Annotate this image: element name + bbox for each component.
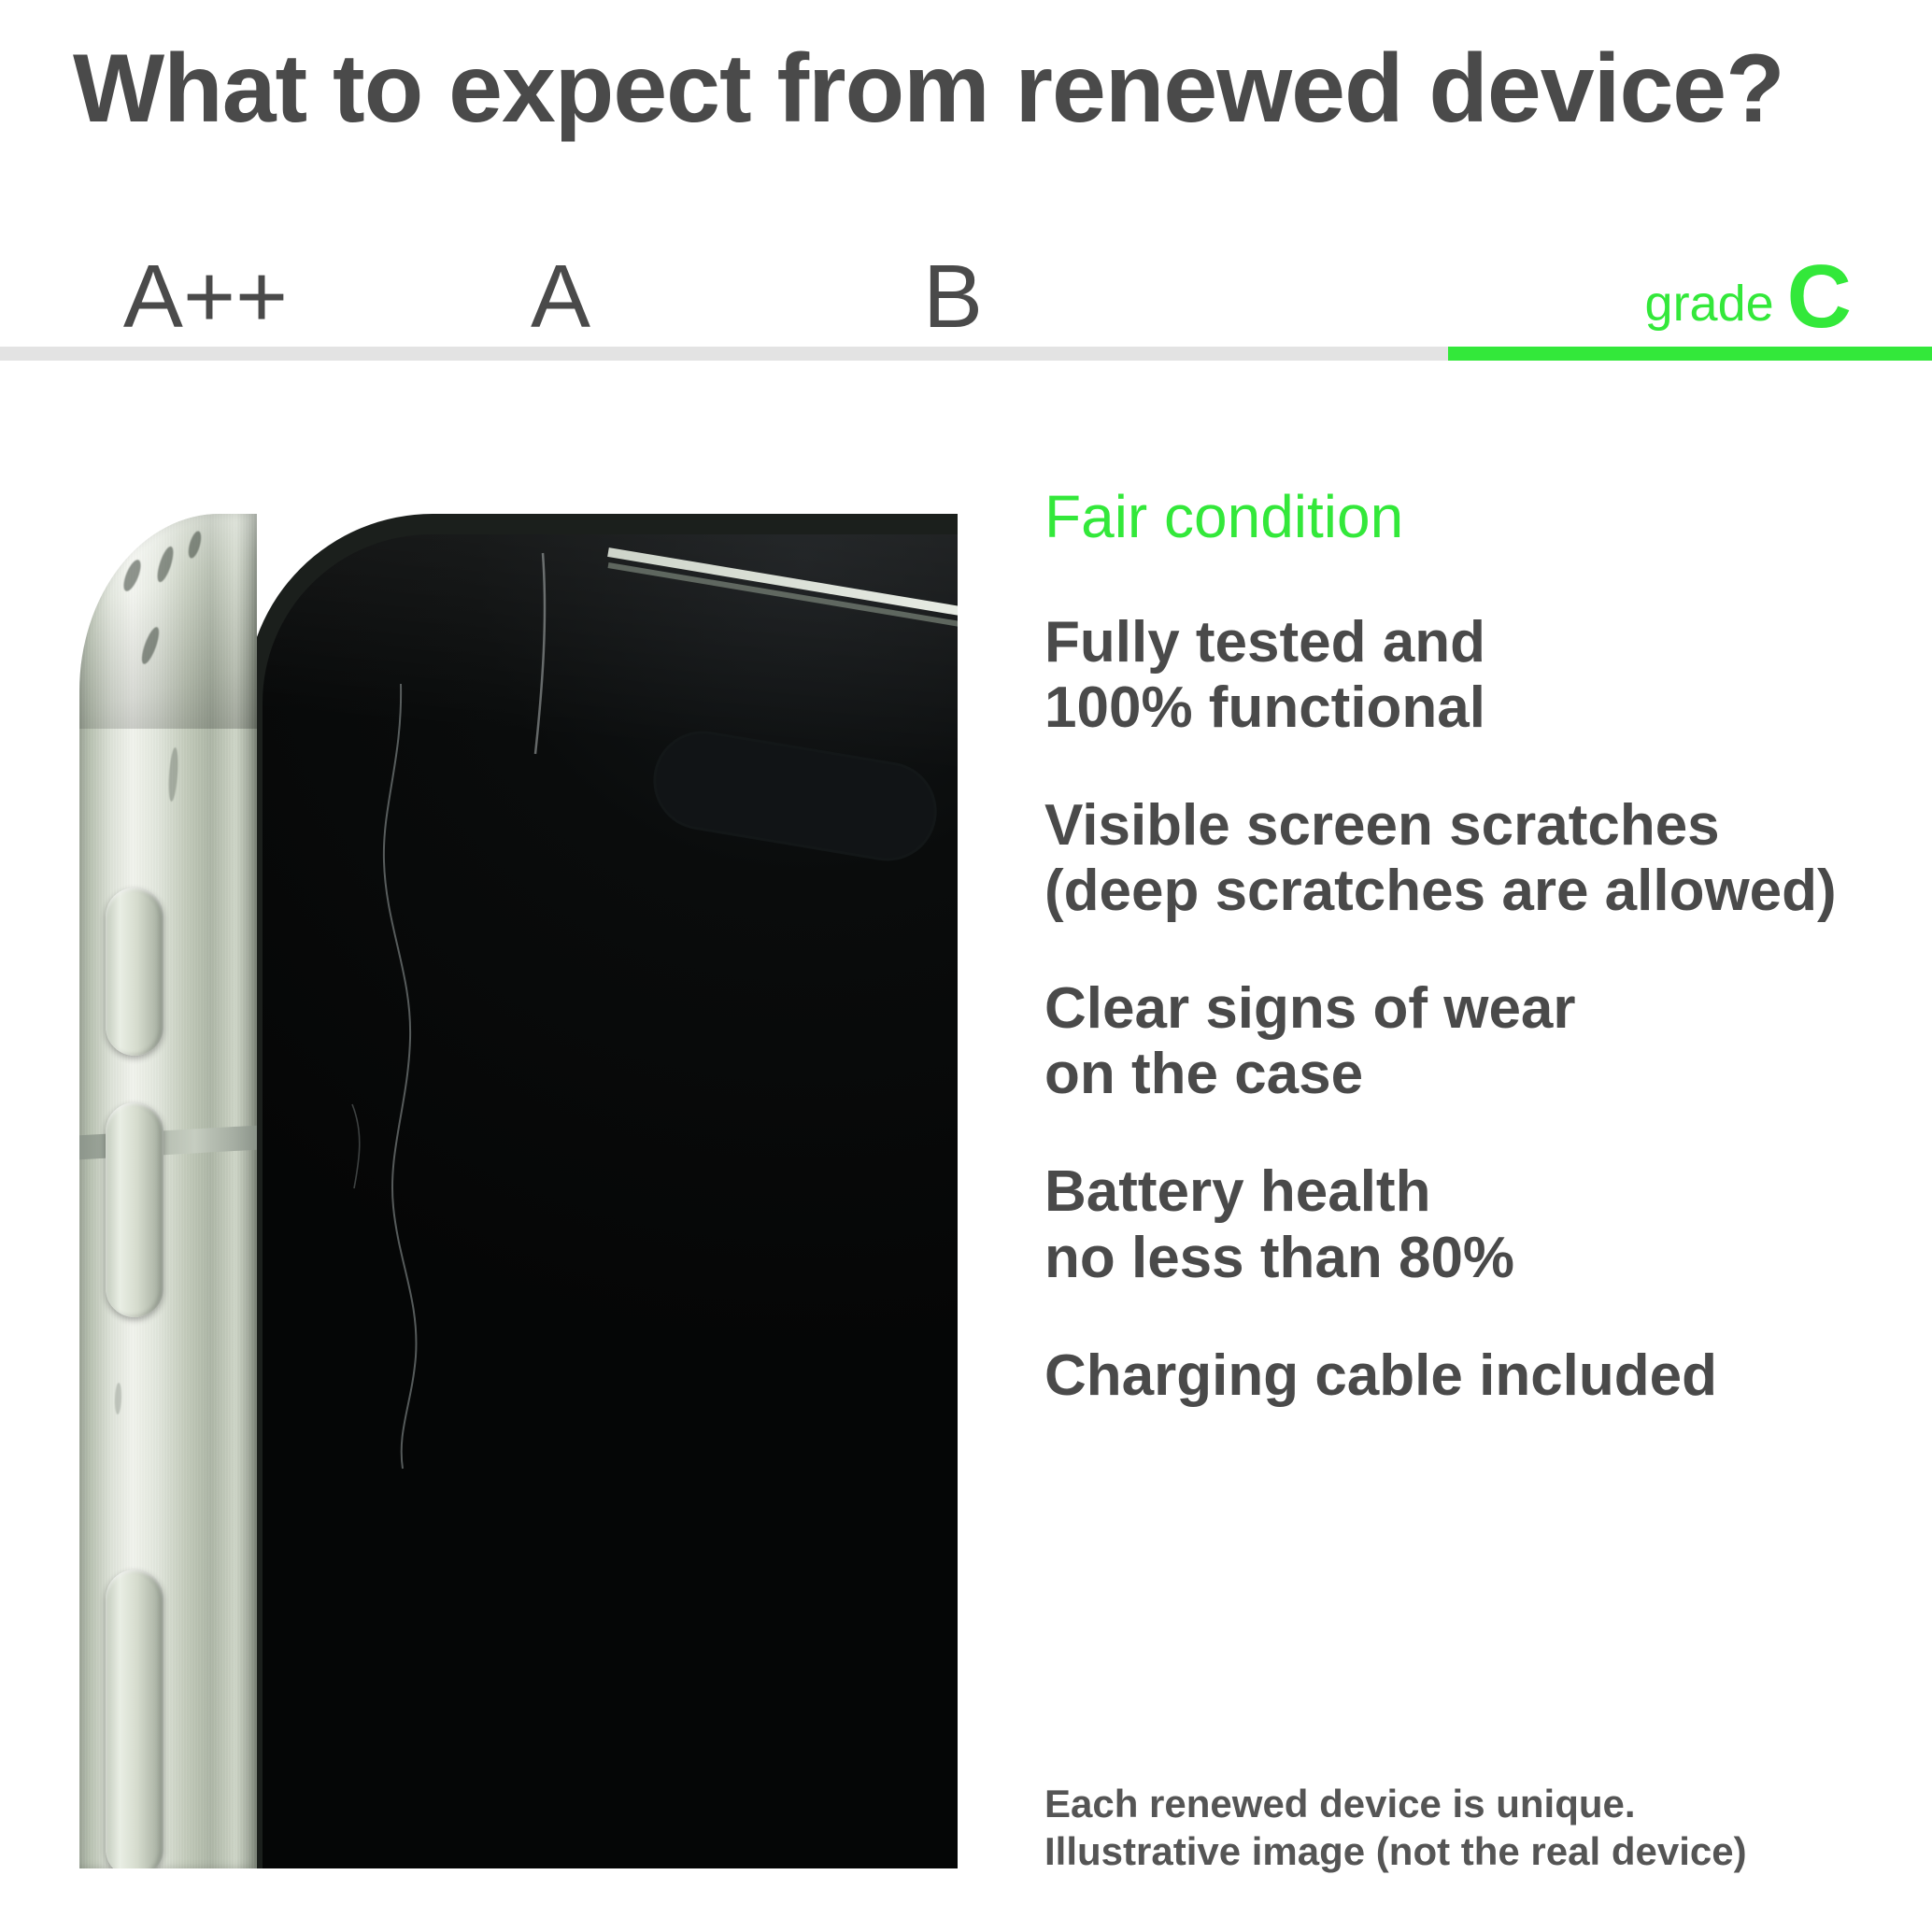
power-button bbox=[106, 1570, 163, 1868]
detail-item: Battery health no less than 80% bbox=[1044, 1159, 1913, 1290]
condition-details: Fair condition Fully tested and 100% fun… bbox=[1044, 486, 1913, 1461]
volume-down-button bbox=[106, 1102, 163, 1317]
tab-label: B bbox=[923, 256, 983, 338]
detail-item: Visible screen scratches (deep scratches… bbox=[1044, 793, 1913, 924]
device-screen bbox=[263, 534, 958, 1868]
tab-grade-b[interactable]: B bbox=[803, 235, 1102, 338]
disclaimer-text: Each renewed device is unique. Illustrat… bbox=[1044, 1780, 1913, 1875]
detail-item: Fully tested and 100% functional bbox=[1044, 610, 1913, 741]
tab-underline bbox=[0, 347, 1932, 361]
detail-item: Clear signs of wear on the case bbox=[1044, 976, 1913, 1107]
volume-up-button bbox=[106, 888, 163, 1056]
page-title: What to expect from renewed device? bbox=[73, 34, 1784, 145]
tab-grade-c[interactable]: grade C bbox=[1448, 235, 1932, 338]
tab-underline-active bbox=[1448, 347, 1932, 361]
tab-label: C bbox=[1787, 256, 1852, 338]
grade-info-panel: What to expect from renewed device? A++ … bbox=[0, 0, 1932, 1932]
tab-prefix-label: grade bbox=[1645, 278, 1787, 338]
tab-label: A++ bbox=[123, 256, 288, 338]
device-illustration bbox=[79, 495, 958, 1868]
device-side-frame bbox=[79, 514, 257, 1868]
condition-label: Fair condition bbox=[1044, 486, 1913, 548]
tab-underline-inactive bbox=[0, 347, 1448, 361]
detail-item: Charging cable included bbox=[1044, 1343, 1913, 1409]
tab-label: A bbox=[531, 256, 590, 338]
tab-grade-a-plus-plus[interactable]: A++ bbox=[56, 235, 355, 338]
grade-tab-bar: A++ A B grade C bbox=[0, 178, 1932, 364]
tab-grade-a[interactable]: A bbox=[411, 235, 710, 338]
